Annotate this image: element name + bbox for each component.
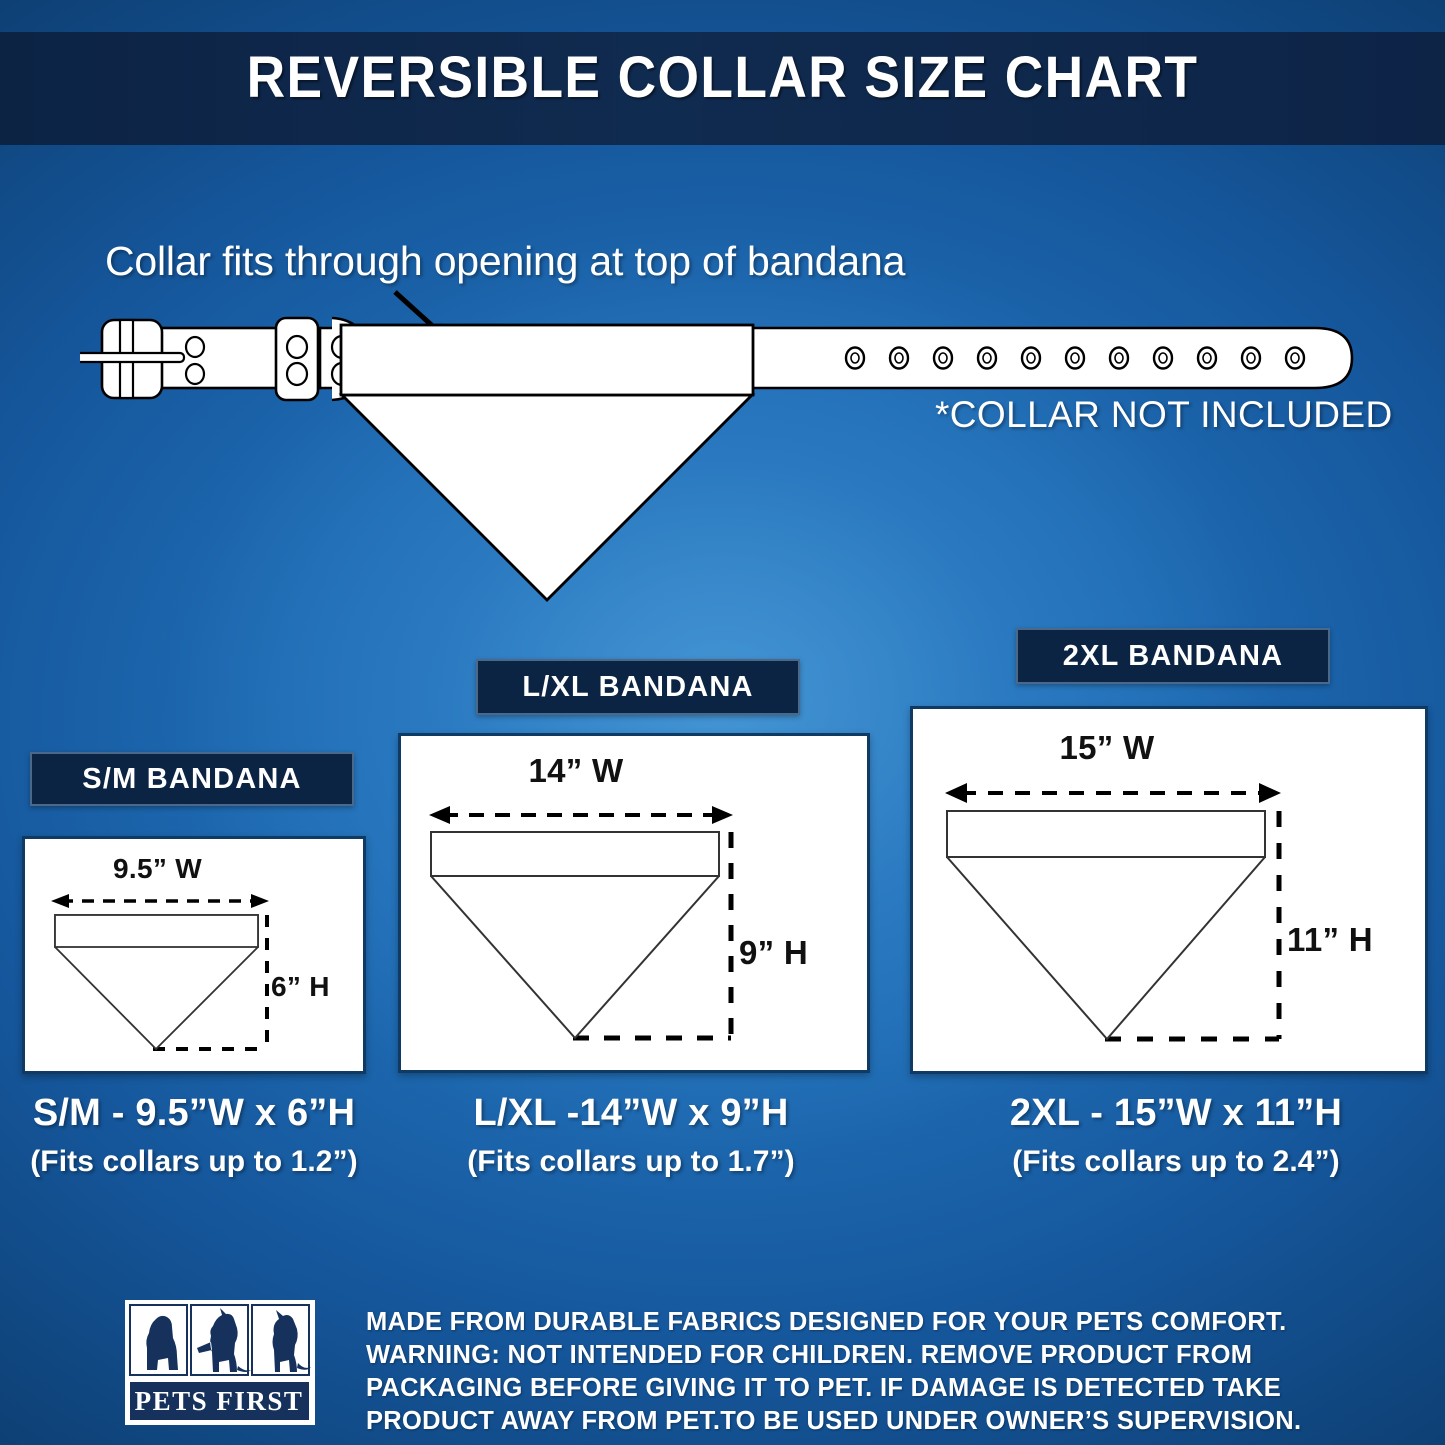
panel-sm: 9.5” W 6” H xyxy=(22,836,366,1074)
badge-sm: S/M BANDANA xyxy=(30,752,354,806)
width-label-sm: 9.5” W xyxy=(55,853,260,885)
bandana-triangle xyxy=(342,395,752,600)
bandana-sleeve xyxy=(341,325,753,395)
page-title: REVERSIBLE COLLAR SIZE CHART xyxy=(58,44,1387,111)
subcaption-sm: (Fits collars up to 1.2”) xyxy=(0,1145,388,1179)
badge-2xl: 2XL BANDANA xyxy=(1016,628,1330,684)
height-label-lxl: 9” H xyxy=(739,934,808,972)
footer-line-1: MADE FROM DURABLE FABRICS DESIGNED FOR Y… xyxy=(366,1306,1356,1339)
footer-line-4: PRODUCT AWAY FROM PET.TO BE USED UNDER O… xyxy=(366,1405,1356,1438)
pets-first-logo: PETS FIRST xyxy=(125,1300,315,1425)
caption-2xl: 2XL - 15”W x 11”H xyxy=(930,1092,1422,1135)
width-dimension-lxl xyxy=(429,806,733,824)
subcaption-2xl: (Fits collars up to 2.4”) xyxy=(930,1145,1422,1179)
height-label-2xl: 11” H xyxy=(1287,921,1373,959)
caption-lxl: L/XL -14”W x 9”H xyxy=(398,1092,864,1135)
height-label-sm: 6” H xyxy=(271,971,330,1003)
width-dimension-2xl xyxy=(945,783,1281,803)
footer-line-3: PACKAGING BEFORE GIVING IT TO PET. IF DA… xyxy=(366,1372,1356,1405)
logo-brand-text: PETS FIRST xyxy=(135,1386,304,1416)
footer-line-2: WARNING: NOT INTENDED FOR CHILDREN. REMO… xyxy=(366,1339,1356,1372)
panel-lxl: 14” W 9” H xyxy=(398,733,870,1073)
footer-disclaimer: MADE FROM DURABLE FABRICS DESIGNED FOR Y… xyxy=(366,1306,1356,1438)
size-chart-page: REVERSIBLE COLLAR SIZE CHART Collar fits… xyxy=(0,0,1445,1445)
width-dimension-sm xyxy=(51,894,269,908)
subcaption-lxl: (Fits collars up to 1.7”) xyxy=(398,1145,864,1179)
caption-sm: S/M - 9.5”W x 6”H xyxy=(0,1092,388,1135)
logo-dog-panels xyxy=(130,1305,311,1375)
width-label-lxl: 14” W xyxy=(431,752,721,790)
badge-lxl: L/XL BANDANA xyxy=(476,659,800,715)
collar-bandana-illustration xyxy=(80,270,1370,620)
width-label-2xl: 15” W xyxy=(947,729,1267,767)
panel-2xl: 15” W 11” H xyxy=(910,706,1428,1074)
